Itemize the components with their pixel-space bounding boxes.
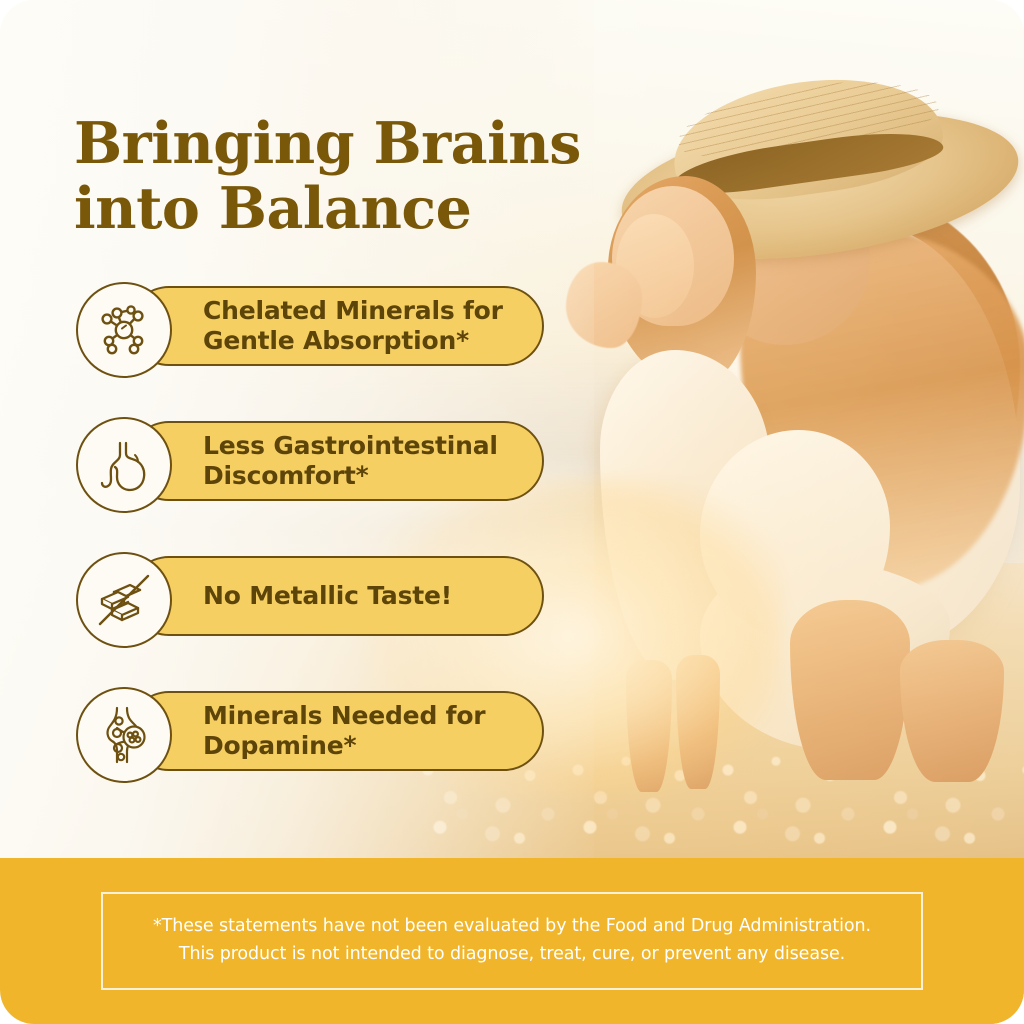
feature-label: Less Gastrointestinal Discomfort* bbox=[203, 431, 498, 492]
child-hand bbox=[566, 262, 642, 348]
feature-line-2: Discomfort* bbox=[203, 461, 368, 490]
feature-line-1: Chelated Minerals for bbox=[203, 296, 503, 325]
feature-item: Chelated Minerals for Gentle Absorption* bbox=[76, 282, 546, 370]
promo-card: Bringing Brains into Balance Chelated Mi… bbox=[0, 0, 1024, 1024]
feature-list: Chelated Minerals for Gentle Absorption* bbox=[76, 282, 546, 822]
mother-leg-front bbox=[790, 600, 910, 780]
feature-pill-no-metallic-taste: No Metallic Taste! bbox=[129, 556, 544, 636]
feature-line-1: No Metallic Taste! bbox=[203, 581, 452, 610]
feature-line-2: Gentle Absorption* bbox=[203, 326, 469, 355]
disclaimer-box: *These statements have not been evaluate… bbox=[101, 892, 923, 991]
feature-line-1: Less Gastrointestinal bbox=[203, 431, 498, 460]
feature-label: No Metallic Taste! bbox=[203, 581, 452, 612]
disclaimer-line-1: *These statements have not been evaluate… bbox=[113, 912, 911, 940]
neuron-synapse-icon bbox=[76, 687, 172, 783]
feature-item: Less Gastrointestinal Discomfort* bbox=[76, 417, 546, 505]
feature-line-1: Minerals Needed for bbox=[203, 701, 485, 730]
stomach-icon bbox=[76, 417, 172, 513]
molecule-icon bbox=[76, 282, 172, 378]
mother-leg-back bbox=[900, 640, 1004, 782]
no-metal-bars-icon bbox=[76, 552, 172, 648]
feature-pill-chelated-minerals: Chelated Minerals for Gentle Absorption* bbox=[129, 286, 544, 366]
disclaimer-line-2: This product is not intended to diagnose… bbox=[113, 940, 911, 968]
headline-line-2: into Balance bbox=[74, 177, 674, 242]
feature-line-2: Dopamine* bbox=[203, 731, 356, 760]
feature-label: Chelated Minerals for Gentle Absorption* bbox=[203, 296, 503, 357]
footer-band: *These statements have not been evaluate… bbox=[0, 858, 1024, 1024]
feature-label: Minerals Needed for Dopamine* bbox=[203, 701, 485, 762]
feature-pill-less-gi-discomfort: Less Gastrointestinal Discomfort* bbox=[129, 421, 544, 501]
headline-line-1: Bringing Brains bbox=[74, 110, 581, 177]
feature-pill-minerals-for-dopamine: Minerals Needed for Dopamine* bbox=[129, 691, 544, 771]
feature-item: Minerals Needed for Dopamine* bbox=[76, 687, 546, 775]
feature-item: No Metallic Taste! bbox=[76, 552, 546, 640]
page-title: Bringing Brains into Balance bbox=[74, 112, 674, 242]
